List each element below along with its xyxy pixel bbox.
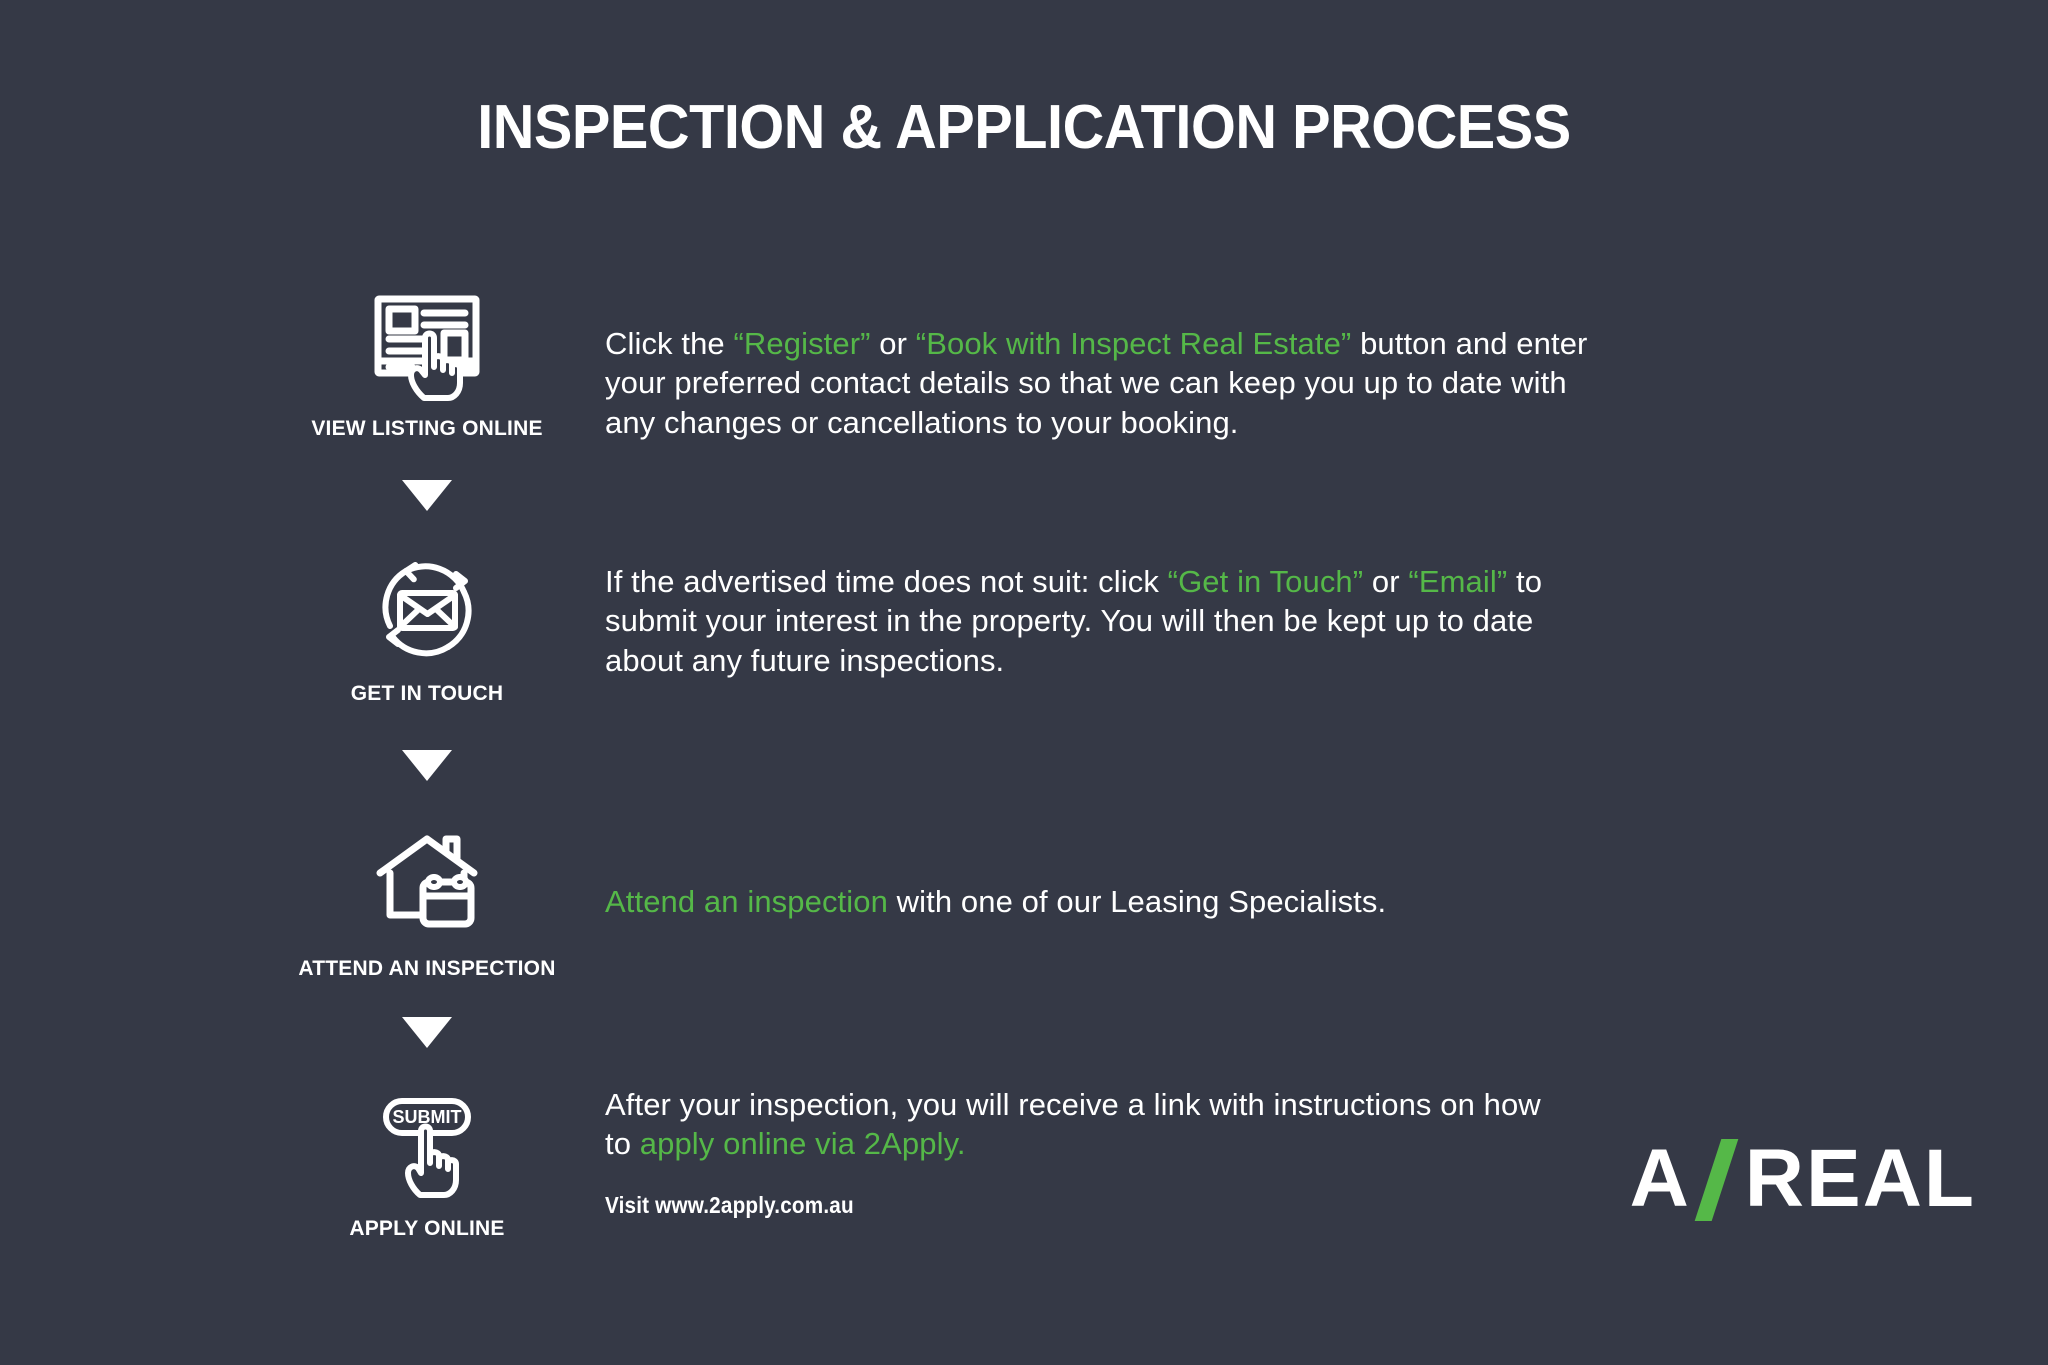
body-phrase: or — [871, 326, 916, 361]
step-label-view-listing-online: VIEW LISTING ONLINE — [311, 417, 542, 441]
accent-phrase: Attend an inspection — [605, 884, 888, 919]
step-body-apply-online: After your inspection, you will receive … — [605, 1085, 1565, 1164]
brand-logo: A REAL — [1630, 1132, 1976, 1226]
chevron-down-icon — [402, 480, 452, 511]
body-phrase: with one of our Leasing Specialists. — [888, 884, 1386, 919]
accent-phrase: “Book with Inspect Real Estate” — [916, 326, 1352, 361]
envelope-refresh-icon — [368, 550, 486, 668]
step-node-attend-an-inspection: ATTEND AN INSPECTION — [282, 825, 572, 981]
flow-arrow-1 — [282, 480, 572, 511]
logo-letter-a: A — [1630, 1132, 1691, 1226]
step-label-get-in-touch: GET IN TOUCH — [351, 682, 504, 706]
step-body-get-in-touch: If the advertised time does not suit: cl… — [605, 562, 1615, 680]
listing-page-click-icon — [368, 285, 486, 403]
logo-word-real: REAL — [1745, 1132, 1976, 1226]
accent-phrase: “Get in Touch” — [1168, 564, 1364, 599]
accent-phrase: apply online via 2Apply. — [640, 1126, 966, 1161]
submit-button-click-icon: SUBMIT — [368, 1085, 486, 1203]
accent-phrase: “Register” — [733, 326, 870, 361]
step-node-get-in-touch: GET IN TOUCH — [282, 550, 572, 706]
step-body-attend-an-inspection: Attend an inspection with one of our Lea… — [605, 882, 1615, 921]
chevron-down-icon — [402, 750, 452, 781]
page-title: INSPECTION & APPLICATION PROCESS — [72, 92, 1977, 163]
step-label-attend-an-inspection: ATTEND AN INSPECTION — [298, 957, 555, 981]
chevron-down-icon — [402, 1017, 452, 1048]
logo-slash-icon — [1695, 1137, 1741, 1221]
step-node-view-listing-online: VIEW LISTING ONLINE — [282, 285, 572, 441]
house-calendar-icon — [368, 825, 486, 943]
body-phrase: or — [1363, 564, 1408, 599]
body-phrase: If the advertised time does not suit: cl… — [605, 564, 1168, 599]
step-body-view-listing-online: Click the “Register” or “Book with Inspe… — [605, 324, 1615, 442]
flow-arrow-2 — [282, 750, 572, 781]
body-phrase: Click the — [605, 326, 733, 361]
visit-url-line: Visit www.2apply.com.au — [605, 1192, 854, 1219]
flow-arrow-3 — [282, 1017, 572, 1048]
step-node-apply-online: SUBMIT APPLY ONLINE — [282, 1085, 572, 1241]
step-label-apply-online: APPLY ONLINE — [349, 1217, 504, 1241]
accent-phrase: “Email” — [1408, 564, 1507, 599]
